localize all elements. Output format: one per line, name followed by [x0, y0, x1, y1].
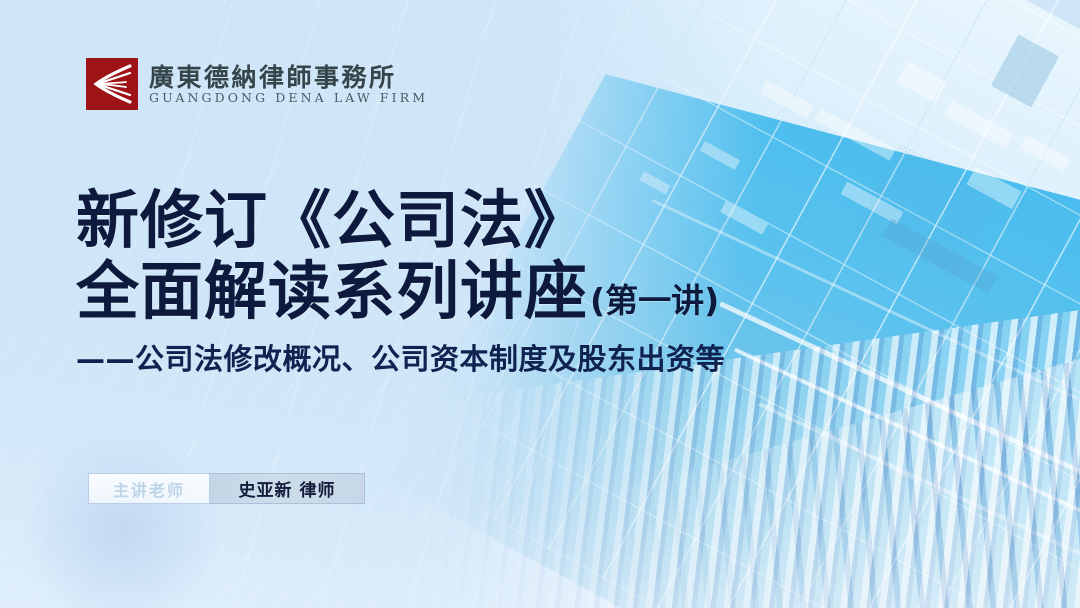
- title-block: 新修订《公司法》 全面解读系列讲座 (第一讲) ——公司法修改概况、公司资本制度…: [76, 186, 725, 378]
- title-line-2-main: 全面解读系列讲座: [76, 257, 588, 328]
- dena-fan-mark-icon: [86, 58, 138, 110]
- title-line-2: 全面解读系列讲座 (第一讲): [76, 257, 725, 328]
- law-firm-name-en: GUANGDONG DENA LAW FIRM: [149, 92, 428, 105]
- law-firm-logo: 廣東德納律師事務所 GUANGDONG DENA LAW FIRM: [86, 58, 428, 110]
- title-subtitle: ——公司法修改概况、公司资本制度及股东出资等: [76, 336, 725, 378]
- title-line-1: 新修订《公司法》: [76, 186, 725, 257]
- speaker-role-label: 主讲老师: [88, 473, 210, 504]
- presentation-title-slide: 廣東德納律師事務所 GUANGDONG DENA LAW FIRM 新修订《公司…: [0, 0, 1080, 608]
- law-firm-name-block: 廣東德納律師事務所 GUANGDONG DENA LAW FIRM: [149, 64, 428, 105]
- speaker-badge: 主讲老师 史亚新 律师: [88, 473, 365, 504]
- speaker-name: 史亚新 律师: [210, 473, 365, 504]
- law-firm-name-cn: 廣東德納律師事務所: [149, 64, 428, 91]
- title-part-number: (第一讲): [590, 283, 719, 327]
